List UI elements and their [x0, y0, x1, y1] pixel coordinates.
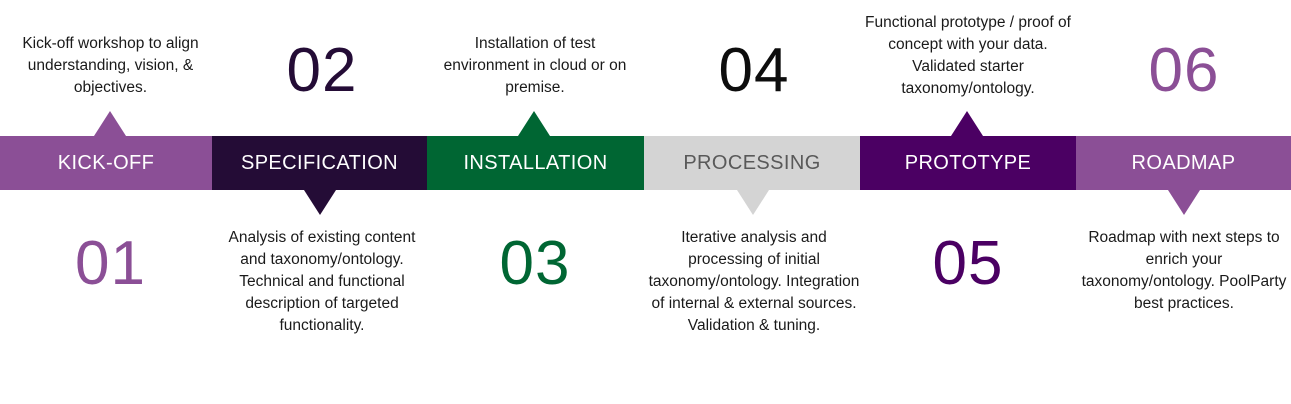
phase-step-number: 02: [217, 40, 427, 102]
phase-band-label: INSTALLATION: [463, 153, 607, 173]
phase-step-number: 03: [430, 233, 640, 295]
phase-band-label: ROADMAP: [1132, 153, 1236, 173]
phase-pointer-up-icon: [94, 111, 126, 136]
phase-description-text: Roadmap with next steps to enrich your t…: [1080, 227, 1288, 315]
phase-description-text: Installation of test environment in clou…: [430, 33, 640, 99]
phase-step-number: 05: [862, 233, 1074, 295]
phase-band-specification[interactable]: SPECIFICATION: [212, 136, 427, 190]
phase-pointer-up-icon: [951, 111, 983, 136]
phase-pointer-up-icon: [518, 111, 550, 136]
phase-description-text: Functional prototype / proof of concept …: [862, 12, 1074, 100]
phase-band-strip: KICK-OFFSPECIFICATIONINSTALLATIONPROCESS…: [0, 136, 1291, 190]
phase-step-number: 01: [8, 233, 213, 295]
phase-pointer-down-icon: [304, 190, 336, 215]
phase-step-number: 06: [1080, 40, 1288, 102]
phase-pointer-down-icon: [1168, 190, 1200, 215]
phase-band-label: PROTOTYPE: [905, 153, 1032, 173]
phase-band-prototype[interactable]: PROTOTYPE: [860, 136, 1076, 190]
phase-band-roadmap[interactable]: ROADMAP: [1076, 136, 1291, 190]
phase-band-kick-off[interactable]: KICK-OFF: [0, 136, 212, 190]
phase-band-label: SPECIFICATION: [241, 153, 398, 173]
phase-band-installation[interactable]: INSTALLATION: [427, 136, 644, 190]
phase-step-number: 04: [648, 40, 860, 102]
phase-band-label: KICK-OFF: [58, 153, 155, 173]
phase-pointer-down-icon: [737, 190, 769, 215]
process-timeline-diagram: Kick-off workshop to align understanding…: [0, 0, 1291, 404]
phase-band-processing[interactable]: PROCESSING: [644, 136, 860, 190]
phase-description-text: Iterative analysis and processing of ini…: [648, 227, 860, 337]
phase-band-label: PROCESSING: [683, 153, 820, 173]
phase-description-text: Analysis of existing content and taxonom…: [217, 227, 427, 337]
phase-description-text: Kick-off workshop to align understanding…: [8, 33, 213, 99]
